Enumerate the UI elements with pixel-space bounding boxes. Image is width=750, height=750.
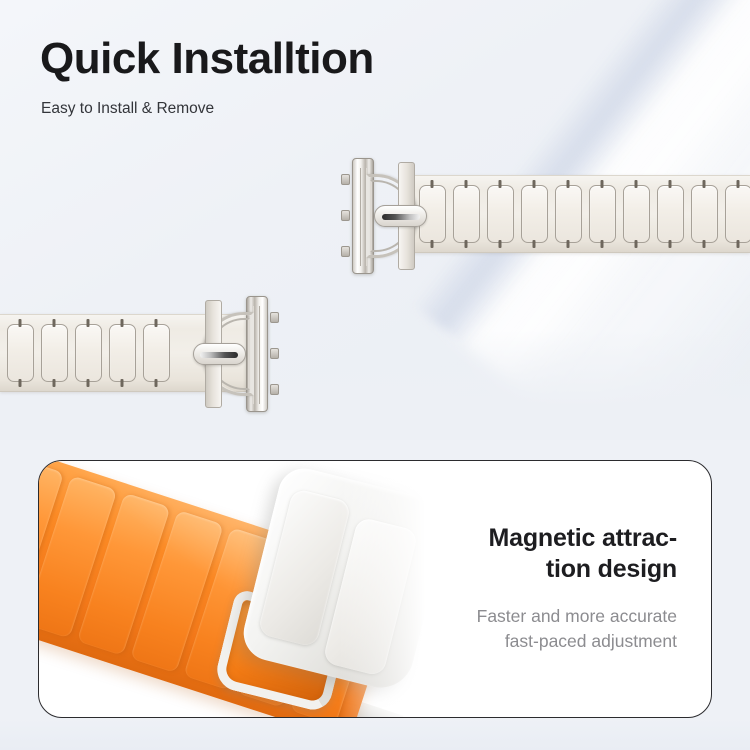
link-plate	[7, 324, 34, 382]
watch-strap-upper	[412, 175, 750, 253]
feature-card: Magnetic attrac- tion design Faster and …	[38, 460, 712, 718]
strap-link	[3, 315, 37, 391]
page-title: Quick Installtion	[40, 36, 374, 83]
connector-tab-icon	[341, 246, 350, 257]
strap-connector-upper	[348, 152, 428, 280]
background-light-streak-accent	[412, 0, 750, 347]
link-notch-bottom-icon	[121, 379, 124, 387]
feature-card-title-line-1: Magnetic attrac-	[377, 523, 677, 554]
feature-card-subtitle-line-1: Faster and more accurate	[377, 604, 677, 629]
link-notch-top-icon	[53, 319, 56, 327]
strap-link-group	[0, 315, 176, 391]
connector-tab-icon	[270, 384, 279, 395]
link-notch-bottom-icon	[635, 240, 638, 248]
link-notch-top-icon	[533, 180, 536, 188]
strap-link	[449, 176, 483, 252]
link-notch-bottom-icon	[703, 240, 706, 248]
page-bottom-gradient	[0, 718, 750, 750]
strap-link	[585, 176, 619, 252]
link-plate	[589, 185, 616, 243]
link-notch-top-icon	[121, 319, 124, 327]
link-notch-top-icon	[669, 180, 672, 188]
strap-link-group	[412, 176, 750, 252]
link-notch-bottom-icon	[155, 379, 158, 387]
link-notch-bottom-icon	[53, 379, 56, 387]
link-notch-top-icon	[737, 180, 740, 188]
strap-link	[517, 176, 551, 252]
strap-link	[71, 315, 105, 391]
link-notch-bottom-icon	[669, 240, 672, 248]
feature-card-subtitle-line-2: fast-paced adjustment	[377, 629, 677, 654]
strap-link	[619, 176, 653, 252]
feature-card-title: Magnetic attrac- tion design	[377, 523, 677, 584]
strap-link	[551, 176, 585, 252]
link-notch-bottom-icon	[567, 240, 570, 248]
strap-link	[721, 176, 750, 252]
link-plate	[487, 185, 514, 243]
link-plate	[453, 185, 480, 243]
feature-card-subtitle: Faster and more accurate fast-paced adju…	[377, 604, 677, 654]
strap-link	[483, 176, 517, 252]
link-plate	[109, 324, 136, 382]
connector-quick-release-pin	[374, 205, 427, 227]
feature-card-title-line-2: tion design	[377, 554, 677, 585]
feature-card-text: Magnetic attrac- tion design Faster and …	[377, 523, 677, 654]
connector-tab-icon	[341, 210, 350, 221]
link-notch-bottom-icon	[499, 240, 502, 248]
page-subtitle: Easy to Install & Remove	[41, 100, 214, 118]
link-notch-bottom-icon	[533, 240, 536, 248]
link-notch-top-icon	[431, 180, 434, 188]
strap-link	[105, 315, 139, 391]
link-notch-top-icon	[601, 180, 604, 188]
link-plate	[75, 324, 102, 382]
link-plate	[555, 185, 582, 243]
link-plate	[623, 185, 650, 243]
link-plate	[521, 185, 548, 243]
link-notch-bottom-icon	[87, 379, 90, 387]
link-plate	[725, 185, 750, 243]
link-notch-bottom-icon	[465, 240, 468, 248]
link-notch-top-icon	[155, 319, 158, 327]
link-notch-top-icon	[465, 180, 468, 188]
link-notch-bottom-icon	[737, 240, 740, 248]
link-notch-top-icon	[567, 180, 570, 188]
strap-link	[139, 315, 173, 391]
strap-link	[37, 315, 71, 391]
strap-link	[687, 176, 721, 252]
link-notch-top-icon	[703, 180, 706, 188]
link-notch-bottom-icon	[431, 240, 434, 248]
link-notch-bottom-icon	[601, 240, 604, 248]
connector-tab-icon	[270, 312, 279, 323]
strap-connector-lower	[192, 290, 272, 418]
pin-slot-icon	[382, 214, 420, 220]
link-notch-top-icon	[499, 180, 502, 188]
connector-tab-icon	[341, 174, 350, 185]
link-plate	[691, 185, 718, 243]
link-notch-top-icon	[19, 319, 22, 327]
connector-tab-icon	[270, 348, 279, 359]
strap-link	[653, 176, 687, 252]
connector-quick-release-pin	[193, 343, 246, 365]
link-plate	[657, 185, 684, 243]
pin-slot-icon	[200, 352, 238, 358]
lug-groove	[360, 168, 361, 266]
link-notch-top-icon	[635, 180, 638, 188]
lug-groove	[259, 306, 260, 404]
link-notch-bottom-icon	[19, 379, 22, 387]
link-plate	[41, 324, 68, 382]
link-notch-top-icon	[87, 319, 90, 327]
link-plate	[143, 324, 170, 382]
